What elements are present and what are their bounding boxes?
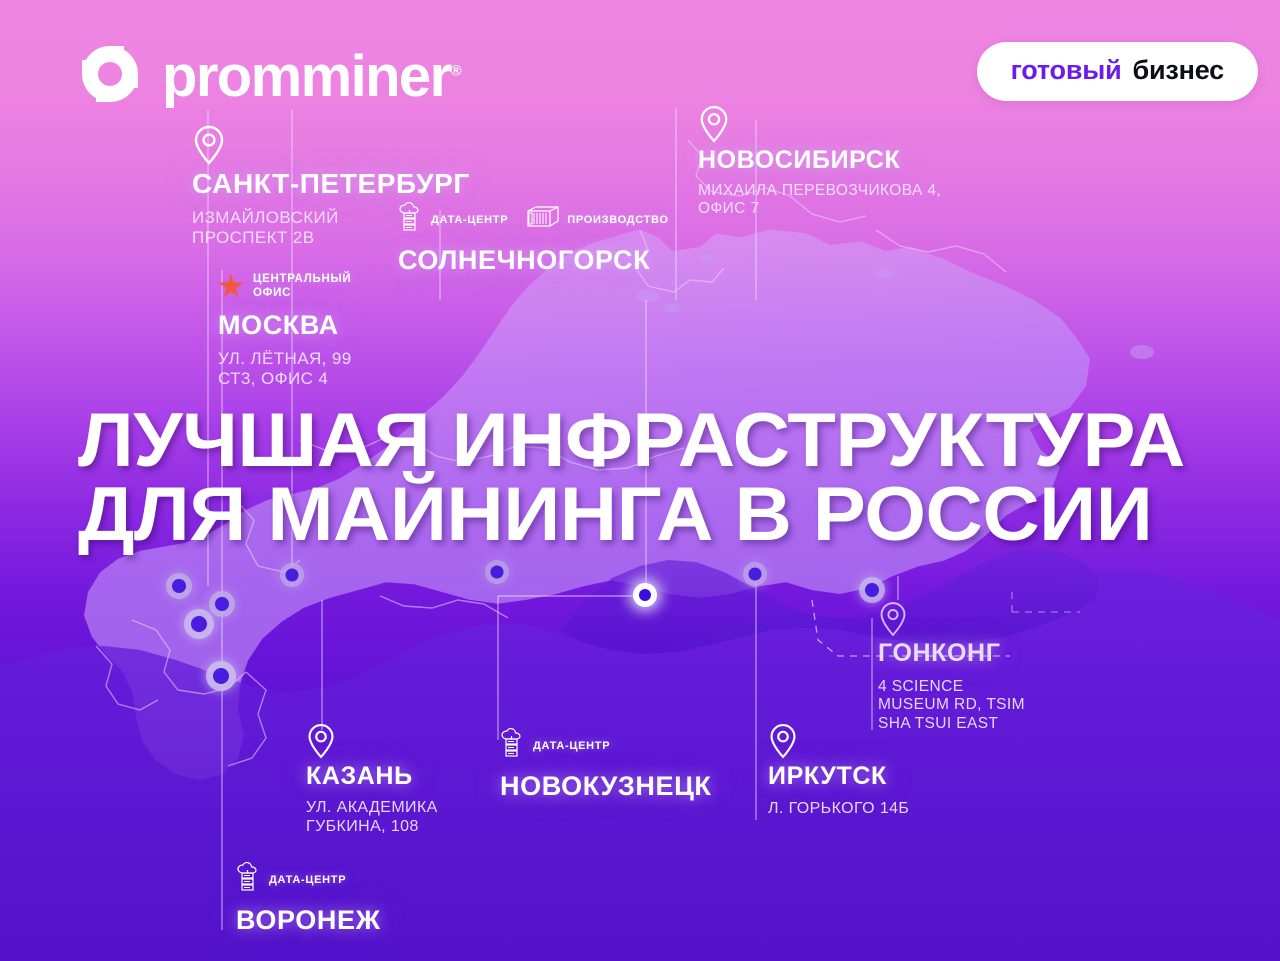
location-address-moscow-line1: УЛ. ЛЁТНАЯ, 99	[218, 349, 352, 369]
datacenter-icon	[236, 862, 262, 897]
datacenter-icon	[398, 202, 424, 237]
tag-datacenter-novokuznetsk: ДАТА-ЦЕНТР	[500, 728, 712, 763]
location-name-voronezh: ВОРОНЕЖ	[236, 905, 381, 936]
location-novokuznetsk[interactable]: ДАТА-ЦЕНТР НОВОКУЗНЕЦК	[500, 728, 712, 802]
tag-datacenter-solnechnogorsk: ДАТА-ЦЕНТР	[398, 202, 508, 237]
tag-label-datacenter: ДАТА-ЦЕНТР	[533, 740, 610, 752]
datacenter-icon	[500, 728, 526, 763]
location-moscow[interactable]: ЦЕНТРАЛЬНЫЙ ОФИС МОСКВА УЛ. ЛЁТНАЯ, 99 С…	[218, 272, 352, 389]
location-address-novosibirsk-line2: ОФИС 7	[698, 200, 941, 218]
page-title: ЛУЧШАЯ ИНФРАСТРУКТУРА ДЛЯ МАЙНИНГА В РОС…	[78, 404, 1269, 551]
location-name-hongkong: ГОНКОНГ	[878, 639, 1025, 668]
brand-logo[interactable]: promminer®	[78, 42, 462, 111]
location-address-hongkong-line1: 4 SCIENCE	[878, 678, 1025, 696]
promminer-pinwheel-logo-icon	[78, 42, 142, 111]
map-pin-icon	[878, 600, 1025, 638]
location-address-kazan-line1: УЛ. АКАДЕМИКА	[306, 799, 438, 818]
location-name-novokuznetsk: НОВОКУЗНЕЦК	[500, 771, 712, 802]
brand-wordmark: promminer®	[162, 48, 462, 106]
tag-label-production: ПРОИЗВОДСТВО	[567, 214, 668, 226]
location-address-hongkong-line2: MUSEUM RD, TSIM	[878, 696, 1025, 714]
head-office-label-line2: ОФИС	[253, 286, 351, 300]
location-voronezh[interactable]: ДАТА-ЦЕНТР ВОРОНЕЖ	[236, 862, 381, 936]
badge-plain-word: бизнес	[1133, 55, 1224, 86]
headline-line-2: ДЛЯ МАЙНИНГА В РОССИИ	[78, 478, 1269, 552]
tag-datacenter-voronezh: ДАТА-ЦЕНТР	[236, 862, 381, 897]
star-icon	[218, 273, 244, 299]
location-hongkong[interactable]: ГОНКОНГ 4 SCIENCE MUSEUM RD, TSIM SHA TS…	[878, 600, 1025, 733]
headline-line-1: ЛУЧШАЯ ИНФРАСТРУКТУРА	[78, 404, 1269, 478]
registered-mark: ®	[451, 62, 462, 79]
infographic-poster: promminer® готовый бизнес САНКТ-ПЕТЕРБУР…	[0, 0, 1280, 961]
location-address-novosibirsk-line1: МИХАИЛА ПЕРЕВОЗЧИКОВА 4,	[698, 182, 941, 200]
location-name-kazan: КАЗАНЬ	[306, 762, 438, 791]
location-address-moscow-line2: СТ3, ОФИС 4	[218, 369, 352, 389]
tag-production-solnechnogorsk: ПРОИЗВОДСТВО	[526, 205, 668, 234]
brand-name-text: promminer	[162, 44, 451, 109]
tag-label-datacenter: ДАТА-ЦЕНТР	[431, 214, 508, 226]
map-pin-icon	[192, 124, 470, 166]
tag-label-datacenter: ДАТА-ЦЕНТР	[269, 874, 346, 886]
location-name-moscow: МОСКВА	[218, 310, 352, 341]
map-pin-icon	[698, 104, 941, 144]
location-novosibirsk[interactable]: НОВОСИБИРСК МИХАИЛА ПЕРЕВОЗЧИКОВА 4, ОФИ…	[698, 104, 941, 219]
tag-head-office-moscow: ЦЕНТРАЛЬНЫЙ ОФИС	[218, 272, 352, 301]
location-name-novosibirsk: НОВОСИБИРСК	[698, 146, 941, 175]
location-solnechnogorsk[interactable]: ДАТА-ЦЕНТР	[398, 202, 669, 276]
location-kazan[interactable]: КАЗАНЬ УЛ. АКАДЕМИКА ГУБКИНА, 108	[306, 722, 438, 837]
location-address-irkutsk-line1: Л. ГОРЬКОГО 14Б	[768, 800, 909, 819]
location-irkutsk[interactable]: ИРКУТСК Л. ГОРЬКОГО 14Б	[768, 722, 909, 819]
location-name-spb: САНКТ-ПЕТЕРБУРГ	[192, 168, 470, 200]
ready-business-badge[interactable]: готовый бизнес	[977, 42, 1258, 101]
shipping-container-icon	[526, 205, 560, 234]
head-office-label-line1: ЦЕНТРАЛЬНЫЙ	[253, 272, 351, 286]
location-name-irkutsk: ИРКУТСК	[768, 762, 909, 791]
map-pin-icon	[306, 722, 438, 760]
badge-accent-word: готовый	[1011, 55, 1122, 86]
location-name-solnechnogorsk: СОЛНЕЧНОГОРСК	[398, 245, 669, 276]
location-address-kazan-line2: ГУБКИНА, 108	[306, 818, 438, 837]
marker-highlighted	[633, 583, 657, 607]
map-pin-icon	[768, 722, 909, 760]
